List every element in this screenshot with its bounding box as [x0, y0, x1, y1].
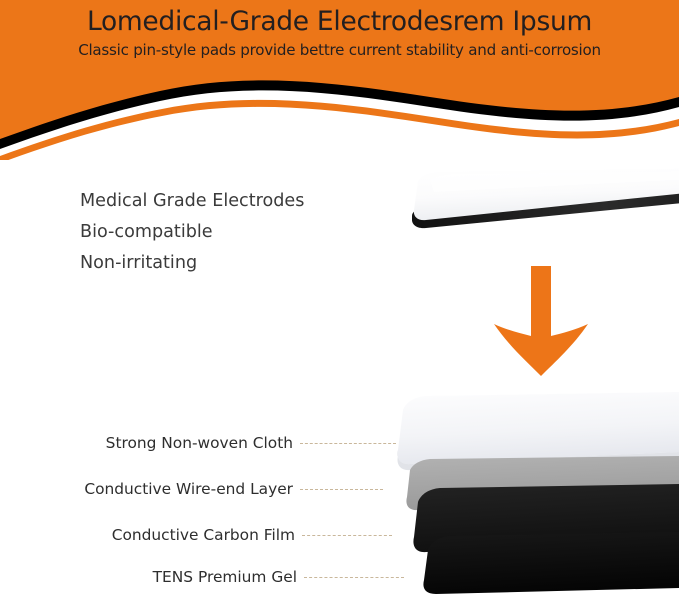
feature-list: Medical Grade Electrodes Bio-compatible … [80, 186, 304, 279]
feature-item: Medical Grade Electrodes [80, 186, 304, 217]
product-infographic: Lomedical-Grade Electrodesrem Ipsum Clas… [0, 0, 679, 594]
callout-leader-line [300, 443, 396, 444]
callout-row: TENS Premium Gel [0, 565, 404, 589]
electrode-pad-graphic [404, 168, 679, 246]
page-subtitle: Classic pin-style pads provide bettre cu… [0, 38, 679, 59]
callout-row: Conductive Wire-end Layer [0, 477, 383, 501]
callout-label: Conductive Wire-end Layer [84, 477, 293, 501]
callout-leader-line [302, 535, 392, 536]
page-title: Lomedical-Grade Electrodesrem Ipsum [0, 0, 679, 38]
electrode-pad-assembled [404, 168, 679, 246]
arrow-shape [494, 266, 588, 376]
feature-item: Non-irritating [80, 248, 304, 279]
callout-label: Conductive Carbon Film [112, 523, 295, 547]
down-arrow [493, 266, 588, 376]
callout-leader-line [300, 489, 383, 490]
down-arrow-icon [493, 266, 588, 376]
callout-label: TENS Premium Gel [153, 565, 297, 589]
feature-item: Bio-compatible [80, 217, 304, 248]
callout-label: Strong Non-woven Cloth [106, 431, 293, 455]
callout-leader-line [304, 577, 404, 578]
header-banner: Lomedical-Grade Electrodesrem Ipsum Clas… [0, 0, 679, 160]
callout-label-group: Strong Non-woven Cloth Conductive Wire-e… [0, 405, 679, 594]
header-text-block: Lomedical-Grade Electrodesrem Ipsum Clas… [0, 0, 679, 59]
callout-row: Strong Non-woven Cloth [0, 431, 396, 455]
callout-row: Conductive Carbon Film [0, 523, 392, 547]
